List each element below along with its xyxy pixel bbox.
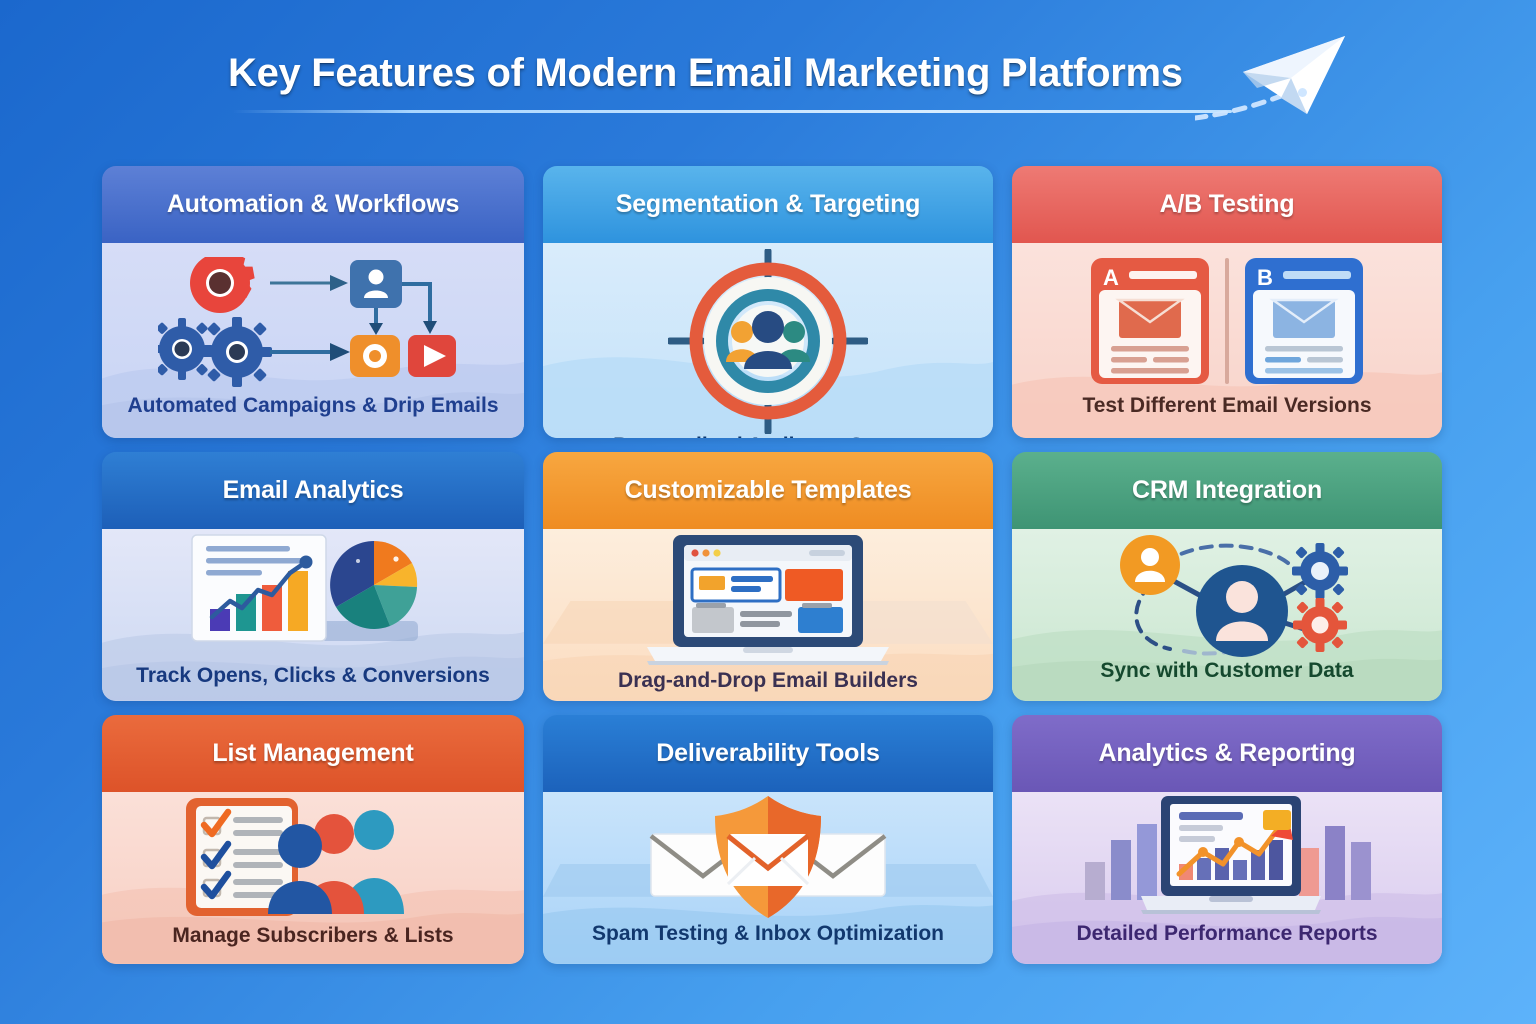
bar-chart-pie-icon <box>102 529 524 664</box>
card-reporting[interactable]: Analytics & Reporting <box>1012 715 1442 964</box>
laptop-report-chart-icon <box>1012 792 1442 922</box>
card-segmentation-body: Personalized Audience Groups <box>543 243 993 438</box>
laptop-template-icon <box>543 529 993 669</box>
card-analytics-caption: Track Opens, Clicks & Conversions <box>102 664 524 701</box>
card-analytics[interactable]: Email Analytics <box>102 452 524 701</box>
card-abtest-body: A B <box>1012 243 1442 438</box>
checklist-people-icon <box>102 792 524 924</box>
card-automation[interactable]: Automation & Workflows <box>102 166 524 438</box>
card-list-caption: Manage Subscribers & Lists <box>102 924 524 964</box>
contacts-gears-icon <box>1012 529 1442 659</box>
card-deliver[interactable]: Deliverability Tools <box>543 715 993 964</box>
target-audience-icon <box>543 243 993 434</box>
card-abtest-title: A/B Testing <box>1012 166 1442 243</box>
card-automation-title: Automation & Workflows <box>102 166 524 243</box>
card-deliver-caption: Spam Testing & Inbox Optimization <box>543 922 993 964</box>
title-underline <box>232 110 1232 113</box>
card-analytics-title: Email Analytics <box>102 452 524 529</box>
paper-plane-icon <box>1195 22 1355 132</box>
card-crm-caption: Sync with Customer Data <box>1012 659 1442 701</box>
card-segmentation[interactable]: Segmentation & Targeting <box>543 166 993 438</box>
card-templates-caption: Drag-and-Drop Email Builders <box>543 669 993 701</box>
card-abtest[interactable]: A/B Testing A <box>1012 166 1442 438</box>
card-list-title: List Management <box>102 715 524 792</box>
card-automation-body: Automated Campaigns & Drip Emails <box>102 243 524 438</box>
page-title: Key Features of Modern Email Marketing P… <box>228 42 1228 104</box>
card-templates[interactable]: Customizable Templates <box>543 452 993 701</box>
card-crm-title: CRM Integration <box>1012 452 1442 529</box>
page-title-wrap: Key Features of Modern Email Marketing P… <box>228 42 1228 112</box>
gears-workflow-icon <box>102 243 524 394</box>
card-deliver-title: Deliverability Tools <box>543 715 993 792</box>
card-segmentation-caption: Personalized Audience Groups <box>543 434 993 438</box>
card-reporting-caption: Detailed Performance Reports <box>1012 922 1442 964</box>
trail-dot-icon <box>1298 88 1307 97</box>
card-reporting-title: Analytics & Reporting <box>1012 715 1442 792</box>
page-header: Key Features of Modern Email Marketing P… <box>0 0 1536 150</box>
card-deliver-body: Spam Testing & Inbox Optimization <box>543 792 993 964</box>
shield-envelope-icon <box>543 792 993 922</box>
card-crm[interactable]: CRM Integration <box>1012 452 1442 701</box>
card-crm-body: Sync with Customer Data <box>1012 529 1442 701</box>
card-templates-body: Drag-and-Drop Email Builders <box>543 529 993 701</box>
card-list[interactable]: List Management <box>102 715 524 964</box>
card-abtest-caption: Test Different Email Versions <box>1012 394 1442 438</box>
card-reporting-body: Detailed Performance Reports <box>1012 792 1442 964</box>
card-list-body: Manage Subscribers & Lists <box>102 792 524 964</box>
card-analytics-body: Track Opens, Clicks & Conversions <box>102 529 524 701</box>
card-templates-title: Customizable Templates <box>543 452 993 529</box>
variant-b-label: B <box>1257 265 1273 290</box>
ab-split-email-icon: A B <box>1012 243 1442 394</box>
variant-a-label: A <box>1103 265 1119 290</box>
card-segmentation-title: Segmentation & Targeting <box>543 166 993 243</box>
card-automation-caption: Automated Campaigns & Drip Emails <box>102 394 524 438</box>
feature-card-grid: Automation & Workflows <box>102 166 1436 964</box>
